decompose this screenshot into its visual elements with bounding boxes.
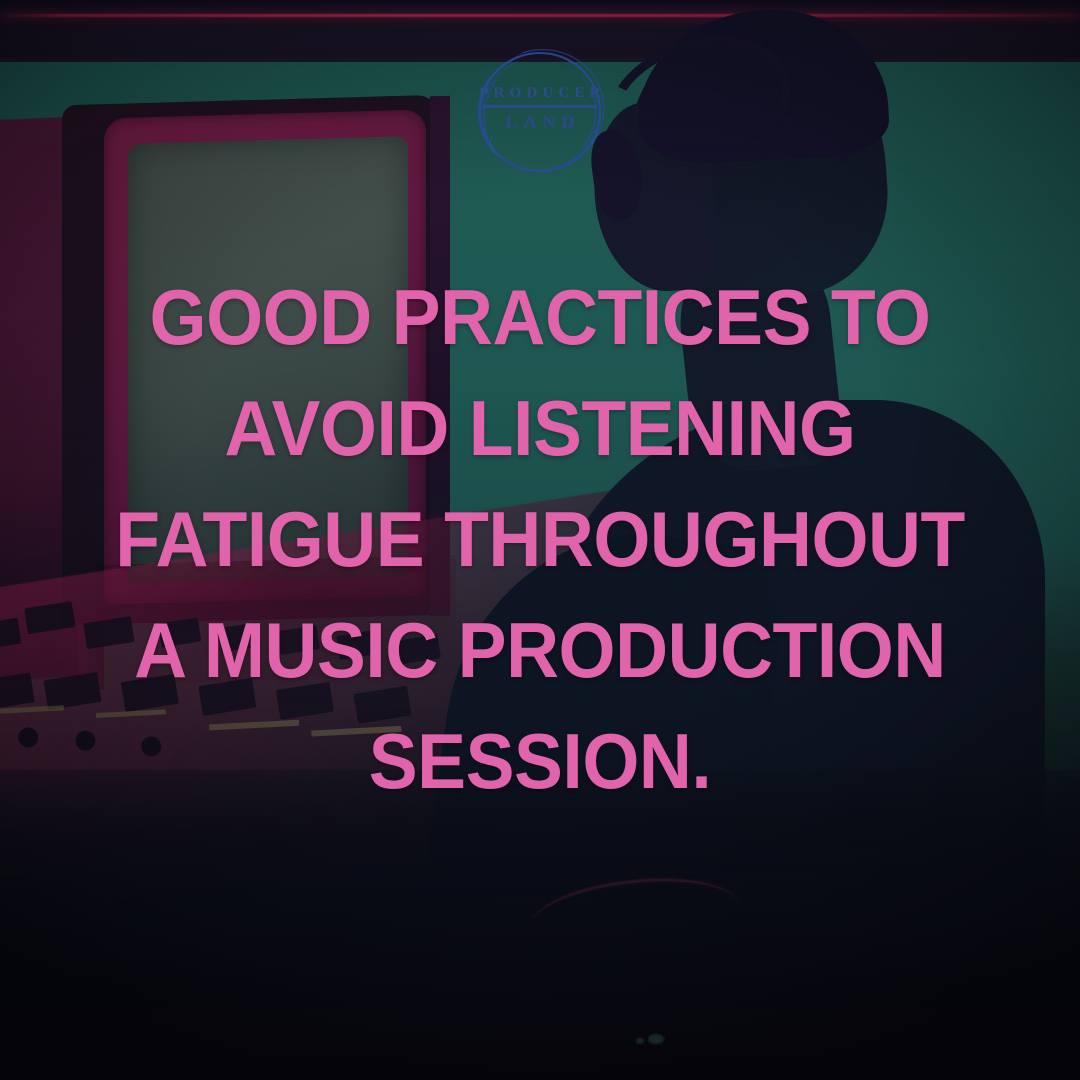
headline-line-5: SESSION. (89, 706, 991, 817)
poster-canvas: PRODUCER LAND GOOD PRACTICES TO AVOID LI… (0, 0, 1080, 1080)
producer-land-logo[interactable]: PRODUCER LAND (470, 44, 610, 180)
headline-line-3: FATIGUE THROUGHOUT (89, 484, 991, 595)
headline-line-2: AVOID LISTENING (89, 373, 991, 484)
logo-land-text: LAND (470, 113, 610, 131)
logo-producer-text: PRODUCER (470, 86, 610, 101)
headline-text: GOOD PRACTICES TO AVOID LISTENING FATIGU… (89, 262, 991, 817)
logo-divider-rule (483, 105, 597, 108)
headline-line-4: A MUSIC PRODUCTION (89, 595, 991, 706)
headline-line-1: GOOD PRACTICES TO (89, 262, 991, 373)
